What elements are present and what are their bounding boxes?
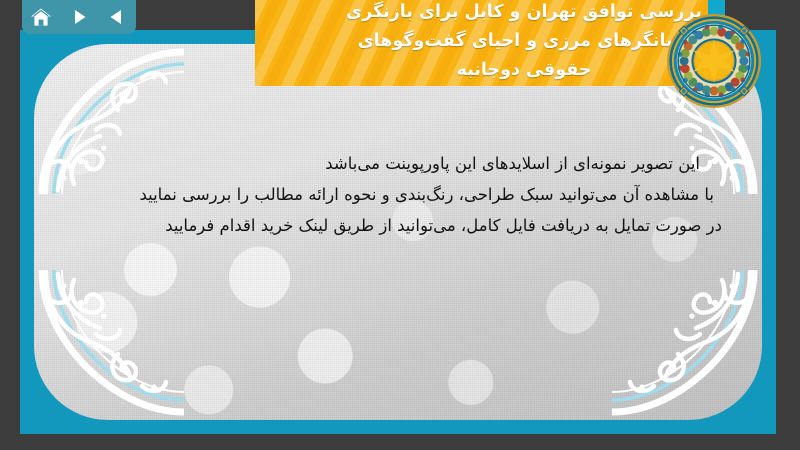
slide-frame: این تصویر نمونه‌ای از اسلایدهای این پاور… <box>20 30 776 434</box>
triangle-left-icon <box>107 7 127 27</box>
body-line-3: در صورت تمایل به دریافت فایل کامل، می‌تو… <box>74 210 722 241</box>
navigation-bar <box>22 0 136 34</box>
previous-slide-button[interactable] <box>104 5 130 29</box>
body-line-2: با مشاهده آن می‌توانید سبک طراحی، رنگ‌بن… <box>74 179 722 210</box>
body-line-1: این تصویر نمونه‌ای از اسلایدهای این پاور… <box>74 148 722 179</box>
corner-flourish-icon-bottom-right <box>612 270 762 420</box>
home-button[interactable] <box>28 5 54 29</box>
title-banner: بررسی توافق تهران و کابل برای بازنگری نش… <box>255 0 725 86</box>
slide-body-text: این تصویر نمونه‌ای از اسلایدهای این پاور… <box>74 148 722 241</box>
home-icon <box>30 7 52 28</box>
triangle-right-icon <box>69 7 89 27</box>
page-title: بررسی توافق تهران و کابل برای بازنگری نش… <box>265 0 725 85</box>
slide-content-area: این تصویر نمونه‌ای از اسلایدهای این پاور… <box>34 44 762 420</box>
slide-viewer: این تصویر نمونه‌ای از اسلایدهای این پاور… <box>0 0 800 450</box>
next-slide-button[interactable] <box>66 5 92 29</box>
corner-flourish-icon-bottom-left <box>34 270 184 420</box>
